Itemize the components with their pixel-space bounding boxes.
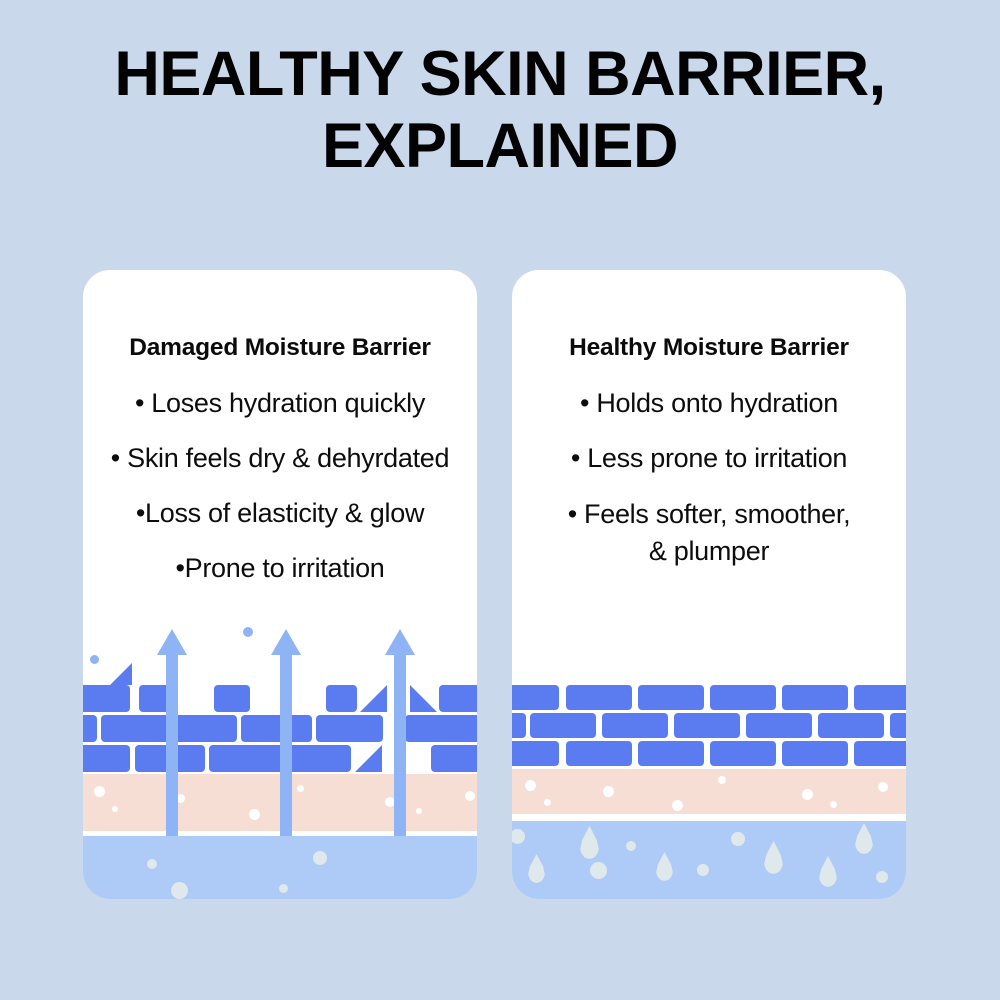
list-item: • Skin feels dry & dehyrdated: [83, 441, 477, 475]
page-title-line-2: EXPLAINED: [0, 110, 1000, 182]
brick: [83, 745, 130, 772]
brick: [431, 745, 477, 772]
moisture-dot-icon: [802, 789, 813, 800]
hydration-reservoir-layer: [512, 821, 906, 899]
moisture-loss-arrow-icon: [385, 629, 415, 836]
moisture-dot-icon: [544, 799, 551, 806]
list-item: • Holds onto hydration: [512, 386, 906, 420]
brick: [512, 713, 526, 738]
brick: [464, 715, 477, 742]
page-title-line-1: HEALTHY SKIN BARRIER,: [0, 38, 1000, 110]
brick: [710, 741, 776, 766]
broken-brick-fragment: [355, 745, 382, 772]
moisture-dot-icon: [603, 786, 614, 797]
healthy-skin-barrier-diagram: [512, 619, 906, 899]
moisture-loss-arrow-icon: [271, 629, 301, 836]
brick: [316, 715, 383, 742]
moisture-dot-icon: [590, 862, 607, 879]
moisture-dot-icon: [416, 808, 422, 814]
brick: [782, 685, 848, 710]
page-title: HEALTHY SKIN BARRIER, EXPLAINED: [0, 38, 1000, 182]
card-damaged-heading: Damaged Moisture Barrier: [83, 334, 477, 362]
brick: [566, 741, 632, 766]
moisture-dot-icon: [465, 791, 475, 801]
moisture-dot-icon: [626, 841, 636, 851]
moisture-dot-icon: [876, 871, 888, 883]
list-item: •Prone to irritation: [83, 551, 477, 585]
moisture-dot-icon: [731, 832, 745, 846]
moisture-dot-icon: [147, 859, 157, 869]
speck-icon: [243, 627, 253, 637]
moisture-dot-icon: [171, 882, 188, 899]
brick: [890, 713, 906, 738]
brick: [83, 715, 97, 742]
damaged-skin-barrier-diagram: [83, 619, 477, 899]
moisture-dot-icon: [313, 851, 327, 865]
list-item: •Loss of elasticity & glow: [83, 496, 477, 530]
brick: [746, 713, 812, 738]
brick: [83, 685, 130, 712]
card-damaged-moisture-barrier: Damaged Moisture Barrier • Loses hydrati…: [83, 270, 477, 899]
card-healthy-moisture-barrier: Healthy Moisture Barrier • Holds onto hy…: [512, 270, 906, 899]
brick: [818, 713, 884, 738]
moisture-dot-icon: [672, 800, 683, 811]
moisture-dot-icon: [249, 809, 260, 820]
moisture-dot-icon: [525, 780, 536, 791]
brick: [512, 685, 559, 710]
brick: [439, 685, 477, 712]
brick: [602, 713, 668, 738]
moisture-dot-icon: [94, 786, 105, 797]
speck-icon: [90, 655, 99, 664]
brick: [530, 713, 596, 738]
moisture-dot-icon: [279, 884, 288, 893]
brick: [638, 741, 704, 766]
brick: [710, 685, 776, 710]
card-damaged-bullet-list: • Loses hydration quickly • Skin feels d…: [83, 386, 477, 606]
moisture-dot-icon: [697, 864, 709, 876]
brick: [854, 741, 906, 766]
card-healthy-bullet-list: • Holds onto hydration • Less prone to i…: [512, 386, 906, 591]
brick: [566, 685, 632, 710]
brick: [214, 685, 250, 712]
moisture-dot-icon: [878, 782, 888, 792]
broken-brick-fragment: [360, 685, 387, 712]
moisture-dot-icon: [112, 806, 118, 812]
skin-dermis-layer: [512, 769, 906, 814]
list-item: • Less prone to irritation: [512, 441, 906, 475]
brick: [854, 685, 906, 710]
brick: [782, 741, 848, 766]
moisture-dot-icon: [830, 801, 837, 808]
list-item: • Loses hydration quickly: [83, 386, 477, 420]
moisture-loss-arrow-icon: [157, 629, 187, 836]
list-item: • Feels softer, smoother, & plumper: [512, 496, 906, 570]
brick: [326, 685, 357, 712]
moisture-dot-icon: [718, 776, 726, 784]
brick: [512, 741, 559, 766]
brick: [674, 713, 740, 738]
brick: [638, 685, 704, 710]
broken-brick-fragment: [110, 663, 132, 685]
card-healthy-heading: Healthy Moisture Barrier: [512, 334, 906, 362]
